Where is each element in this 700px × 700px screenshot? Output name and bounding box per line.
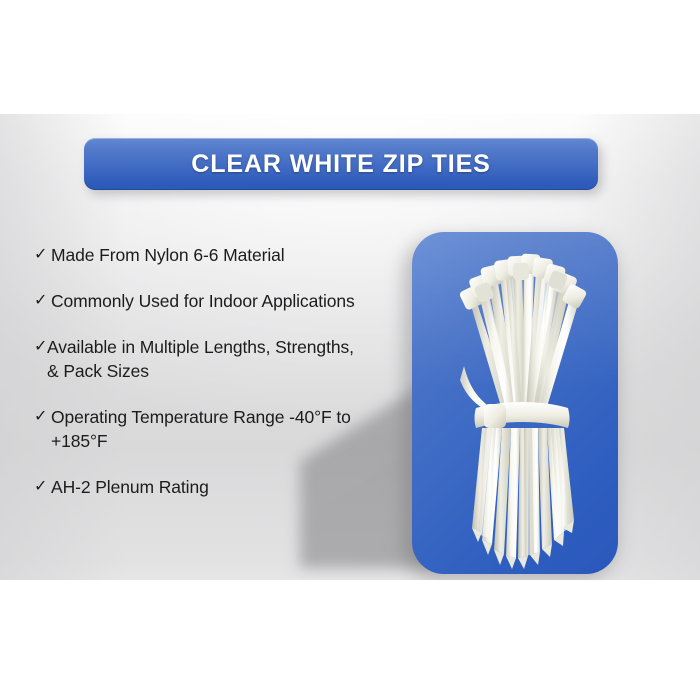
- product-infographic: CLEAR WHITE ZIP TIES ✓ Made From Nylon 6…: [0, 0, 700, 700]
- list-item-label: AH-2 Plenum Rating: [51, 475, 209, 499]
- check-icon: ✓: [34, 405, 51, 428]
- check-icon: ✓: [34, 289, 51, 312]
- zip-tie-bundle-image: [412, 232, 618, 574]
- list-item: ✓ Commonly Used for Indoor Applications: [34, 289, 364, 313]
- bottom-white-margin: [0, 580, 700, 700]
- top-white-margin: [0, 0, 700, 114]
- list-item-label: Commonly Used for Indoor Applications: [51, 289, 355, 313]
- title-banner: CLEAR WHITE ZIP TIES: [84, 138, 598, 190]
- check-icon: ✓: [34, 475, 51, 498]
- list-item: ✓ Made From Nylon 6-6 Material: [34, 243, 364, 267]
- check-icon: ✓: [34, 243, 51, 266]
- title-banner-body: CLEAR WHITE ZIP TIES: [84, 138, 598, 190]
- list-item-label: Made From Nylon 6-6 Material: [51, 243, 285, 267]
- check-icon: ✓: [34, 335, 47, 358]
- product-image-panel: [412, 232, 618, 574]
- page-title: CLEAR WHITE ZIP TIES: [191, 150, 491, 179]
